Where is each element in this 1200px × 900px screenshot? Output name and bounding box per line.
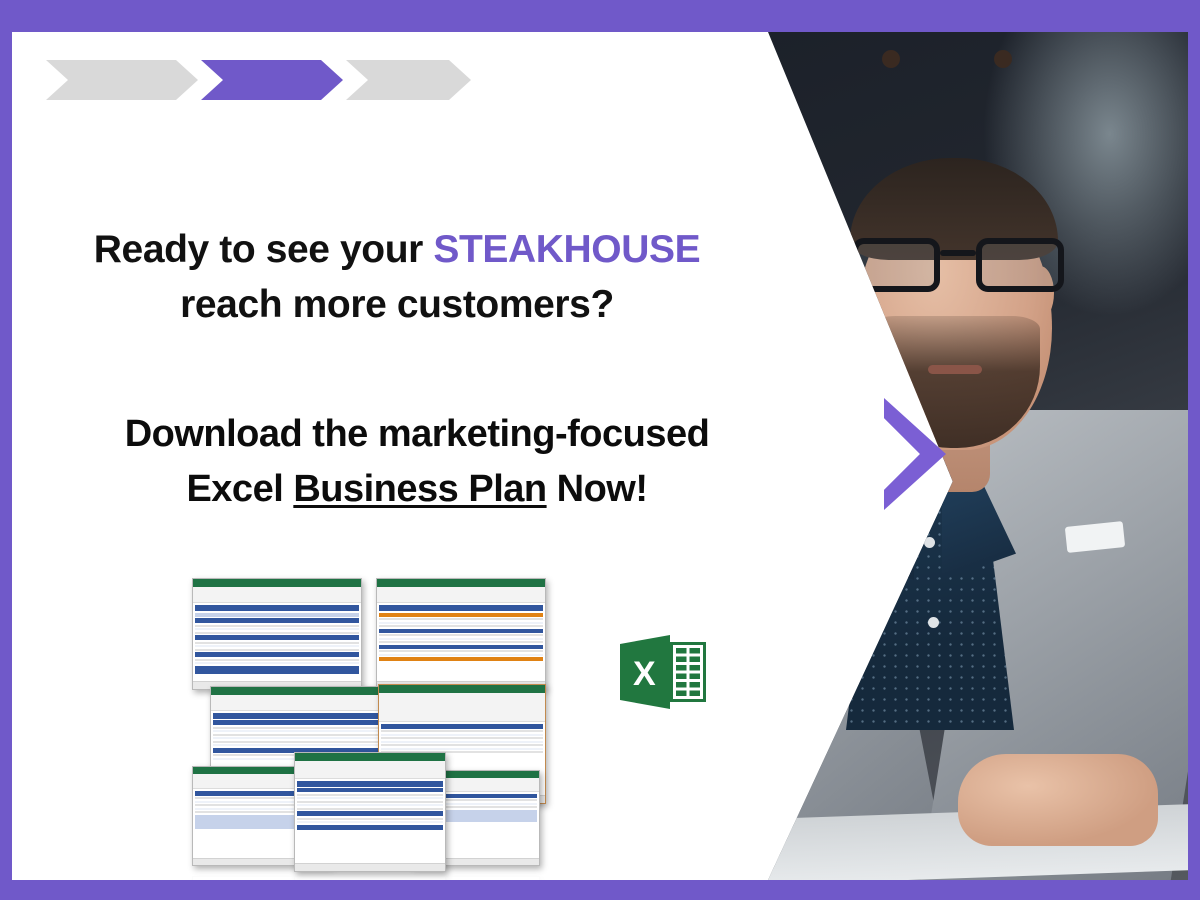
excel-logo-letter: X: [633, 655, 656, 693]
headline-line-1: Ready to see your STEAKHOUSE: [67, 222, 727, 277]
ear-left: [842, 266, 870, 320]
subheadline-suffix: Now!: [547, 468, 648, 510]
excel-sheet-body: [295, 779, 445, 863]
eye-left: [882, 50, 900, 68]
excel-sheet-body: [193, 603, 361, 681]
subheadline-underlined-phrase: Business Plan: [293, 468, 546, 510]
shirt-button: [928, 617, 939, 628]
mouth: [928, 365, 982, 374]
excel-title-bar: [211, 687, 381, 695]
spreadsheet-thumbnail: [192, 578, 362, 690]
excel-ribbon: [211, 695, 381, 711]
subheadline: Download the marketing-focused Excel Bus…: [67, 407, 767, 517]
shirt-button: [924, 537, 935, 548]
excel-logo: X: [612, 630, 712, 714]
progress-chevron-strip: [46, 60, 446, 100]
subheadline-line-2: Excel Business Plan Now!: [67, 462, 767, 517]
headline-accent-word: STEAKHOUSE: [433, 228, 700, 271]
excel-sheet-body: [377, 603, 545, 681]
spreadsheet-thumbnail: [294, 752, 446, 872]
chevron-step-3-icon: [346, 60, 471, 100]
poster-canvas: Ready to see your STEAKHOUSE reach more …: [12, 32, 1188, 880]
headline: Ready to see your STEAKHOUSE reach more …: [67, 222, 727, 333]
excel-spreadsheet-collage: [190, 574, 550, 874]
excel-title-bar: [379, 685, 545, 693]
hands: [958, 754, 1158, 846]
promo-poster: Ready to see your STEAKHOUSE reach more …: [0, 0, 1200, 900]
spreadsheet-thumbnail: [376, 578, 546, 690]
spreadsheet-thumbnail-reflection: [294, 876, 446, 880]
excel-title-bar: [295, 753, 445, 761]
eye-right: [994, 50, 1012, 68]
excel-title-bar: [377, 579, 545, 587]
headline-line-2: reach more customers?: [67, 277, 727, 332]
excel-ribbon: [295, 761, 445, 779]
excel-status-bar: [295, 863, 445, 871]
excel-ribbon: [193, 587, 361, 604]
eyeglasses: [850, 238, 1066, 294]
excel-ribbon: [379, 693, 545, 721]
chevron-step-2-icon: [201, 60, 343, 100]
headline-prefix: Ready to see your: [94, 228, 434, 271]
excel-ribbon: [377, 587, 545, 604]
excel-title-bar: [193, 579, 361, 587]
subheadline-prefix: Excel: [186, 468, 293, 510]
chevron-step-1-icon: [46, 60, 198, 100]
subheadline-line-1: Download the marketing-focused: [67, 407, 767, 462]
